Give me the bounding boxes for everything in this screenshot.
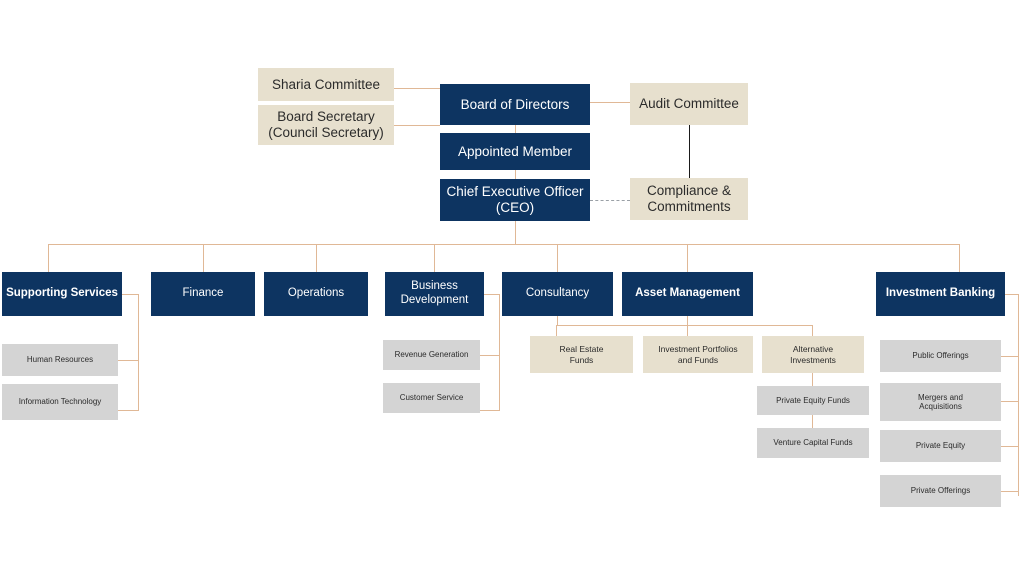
connector-bd-to-revenue <box>479 355 500 356</box>
node-human-resources[interactable]: Human Resources <box>2 344 118 376</box>
node-label: Supporting Services <box>6 287 118 301</box>
connector-am-bus <box>556 325 813 326</box>
node-label-line1: Business <box>411 280 458 294</box>
connector-ss-to-it <box>117 410 139 411</box>
connector-drop-supporting-services <box>48 244 49 272</box>
node-label: Audit Committee <box>639 96 739 112</box>
connector-drop-operations <box>316 244 317 272</box>
connector-am-to-alternative <box>812 325 813 336</box>
connector-bd-out <box>484 294 500 295</box>
node-real-estate-funds[interactable]: Real Estate Funds <box>530 336 633 373</box>
node-label: Revenue Generation <box>395 350 469 359</box>
connector-bd-spine <box>499 294 500 411</box>
node-consultancy[interactable]: Consultancy <box>502 272 613 316</box>
connector-ceo-drop <box>515 221 516 244</box>
node-label-line2: Funds <box>570 355 594 365</box>
connector-ib-to-private-equity <box>1000 446 1019 447</box>
node-label: Operations <box>288 287 344 301</box>
node-label: Private Equity Funds <box>776 396 850 405</box>
node-mergers-and-acquisitions[interactable]: Mergers and Acquisitions <box>880 383 1001 421</box>
node-label-line1: Investment Portfolios <box>658 344 737 354</box>
node-board-secretary[interactable]: Board Secretary (Council Secretary) <box>258 105 394 145</box>
node-private-equity[interactable]: Private Equity <box>880 430 1001 462</box>
node-asset-management[interactable]: Asset Management <box>622 272 753 316</box>
node-customer-service[interactable]: Customer Service <box>383 383 480 413</box>
node-label-line1: Board Secretary <box>277 109 375 125</box>
connector-drop-business-development <box>434 244 435 272</box>
node-label-line2: (Council Secretary) <box>268 125 384 141</box>
connector-ib-to-public-offerings <box>1000 356 1019 357</box>
node-label-line2: and Funds <box>678 355 718 365</box>
connector-ib-to-private-offerings <box>1000 491 1019 492</box>
node-supporting-services[interactable]: Supporting Services <box>2 272 122 316</box>
connector-ss-to-hr <box>117 360 139 361</box>
node-operations[interactable]: Operations <box>264 272 368 316</box>
connector-board-to-audit <box>590 102 630 103</box>
node-alternative-investments[interactable]: Alternative Investments <box>762 336 864 373</box>
node-label-line2: (CEO) <box>496 200 534 216</box>
connector-consultancy-drop <box>557 316 558 325</box>
connector-ss-out <box>122 294 139 295</box>
connector-ib-spine <box>1018 294 1019 496</box>
node-chief-executive-officer[interactable]: Chief Executive Officer (CEO) <box>440 179 590 221</box>
node-label-line2: Development <box>401 294 469 308</box>
node-label: Investment Banking <box>886 287 995 301</box>
node-label: Asset Management <box>635 287 740 301</box>
node-investment-banking[interactable]: Investment Banking <box>876 272 1005 316</box>
connector-am-to-portfolios <box>687 325 688 336</box>
node-label-line1: Real Estate <box>560 344 604 354</box>
node-public-offerings[interactable]: Public Offerings <box>880 340 1001 372</box>
node-investment-portfolios-and-funds[interactable]: Investment Portfolios and Funds <box>643 336 753 373</box>
node-sharia-committee[interactable]: Sharia Committee <box>258 68 394 101</box>
node-business-development[interactable]: Business Development <box>385 272 484 316</box>
connector-alt-to-pef <box>812 373 813 386</box>
node-label-line2: Investments <box>790 355 836 365</box>
connector-division-bus <box>48 244 960 245</box>
node-label-line2: Commitments <box>647 199 730 215</box>
node-appointed-member[interactable]: Appointed Member <box>440 133 590 170</box>
connector-am-to-real-estate <box>556 325 557 336</box>
connector-ib-to-mergers <box>1000 401 1019 402</box>
connector-drop-investment-banking <box>959 244 960 272</box>
node-label: Board of Directors <box>461 97 570 113</box>
connector-sharia-to-board <box>394 88 440 89</box>
node-compliance-commitments[interactable]: Compliance & Commitments <box>630 178 748 220</box>
node-label-line1: Compliance & <box>647 183 731 199</box>
connector-drop-asset-management <box>687 244 688 272</box>
node-label: Private Equity <box>916 441 965 450</box>
connector-ss-spine <box>138 294 139 411</box>
connector-pef-to-vcf <box>812 415 813 428</box>
connector-board-to-appointed <box>515 125 516 133</box>
connector-secretary-to-board <box>394 125 440 126</box>
node-label: Venture Capital Funds <box>773 438 852 447</box>
node-information-technology[interactable]: Information Technology <box>2 384 118 420</box>
connector-bd-to-customer <box>479 410 500 411</box>
connector-ceo-to-compliance <box>590 200 630 201</box>
node-venture-capital-funds[interactable]: Venture Capital Funds <box>757 428 869 458</box>
connector-appointed-to-ceo <box>515 170 516 179</box>
node-finance[interactable]: Finance <box>151 272 255 316</box>
node-private-offerings[interactable]: Private Offerings <box>880 475 1001 507</box>
node-board-of-directors[interactable]: Board of Directors <box>440 84 590 125</box>
node-label-line1: Chief Executive Officer <box>446 184 583 200</box>
node-label: Human Resources <box>27 355 93 364</box>
node-label: Consultancy <box>526 287 589 301</box>
connector-drop-finance <box>203 244 204 272</box>
org-chart-canvas: Sharia Committee Board Secretary (Counci… <box>0 0 1024 576</box>
connector-audit-to-compliance <box>689 125 690 178</box>
node-audit-committee[interactable]: Audit Committee <box>630 83 748 125</box>
node-label: Appointed Member <box>458 144 572 160</box>
node-label: Customer Service <box>400 393 464 402</box>
node-label: Sharia Committee <box>272 77 380 93</box>
node-label: Finance <box>183 287 224 301</box>
node-revenue-generation[interactable]: Revenue Generation <box>383 340 480 370</box>
node-label-line2: Acquisitions <box>919 402 962 411</box>
node-label-line1: Mergers and <box>918 393 963 402</box>
node-label: Public Offerings <box>912 351 968 360</box>
connector-ib-out <box>1005 294 1019 295</box>
node-private-equity-funds[interactable]: Private Equity Funds <box>757 386 869 415</box>
node-label-line1: Alternative <box>793 344 833 354</box>
connector-drop-consultancy <box>557 244 558 272</box>
node-label: Private Offerings <box>911 486 970 495</box>
node-label: Information Technology <box>19 397 102 406</box>
